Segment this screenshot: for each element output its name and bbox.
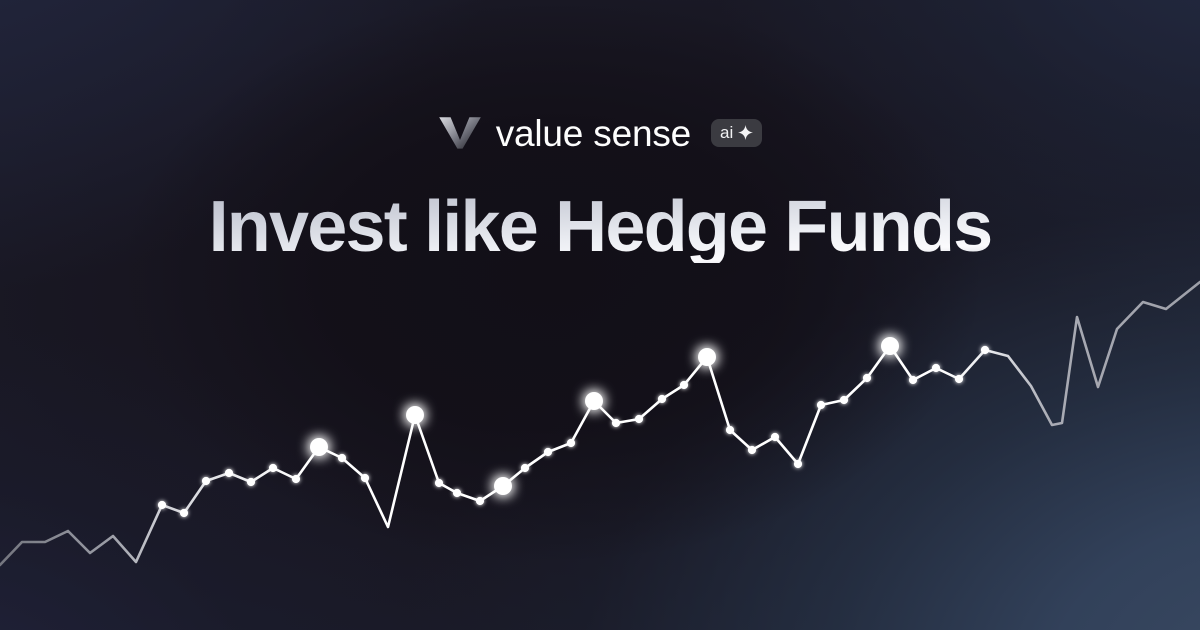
hero-header: value sense ai Invest like Hedge Funds	[0, 0, 1200, 263]
chart-point-highlighted	[406, 406, 424, 424]
chart-point	[435, 479, 443, 487]
chart-point-highlighted	[494, 477, 512, 495]
chart-point-highlighted	[310, 438, 328, 456]
value-sense-chevron-logo-icon	[438, 116, 482, 150]
chart-point	[180, 509, 188, 517]
chart-point	[567, 439, 575, 447]
chart-point	[680, 381, 688, 389]
chart-point	[453, 489, 461, 497]
hero-banner: value sense ai Invest like Hedge Funds	[0, 0, 1200, 630]
chart-line-group	[0, 282, 1200, 565]
chart-point	[247, 478, 255, 486]
chart-point	[544, 448, 552, 456]
chart-point	[863, 374, 871, 382]
chart-point	[932, 364, 940, 372]
chart-point	[635, 415, 643, 423]
chart-point-highlighted	[881, 337, 899, 355]
chart-data-points	[158, 337, 989, 517]
chart-line-path	[0, 282, 1200, 565]
brand-lockup[interactable]: value sense ai	[438, 112, 763, 154]
chart-point	[909, 376, 917, 384]
chart-point	[158, 501, 166, 509]
chart-point	[794, 460, 802, 468]
chart-point	[748, 446, 756, 454]
chart-point	[202, 477, 210, 485]
chart-point	[225, 469, 233, 477]
chart-point-highlighted	[585, 392, 603, 410]
chart-point	[771, 433, 779, 441]
chart-point-highlighted	[698, 348, 716, 366]
chart-point	[476, 497, 484, 505]
chart-point	[292, 475, 300, 483]
ai-badge[interactable]: ai	[711, 119, 762, 147]
chart-point	[817, 401, 825, 409]
chart-point	[269, 464, 277, 472]
chart-point	[361, 474, 369, 482]
chart-point	[981, 346, 989, 354]
brand-name: value sense	[496, 115, 691, 152]
ai-badge-label: ai	[720, 124, 733, 141]
chart-point	[726, 426, 734, 434]
chart-point	[338, 454, 346, 462]
chart-point	[612, 419, 620, 427]
chart-point	[840, 396, 848, 404]
chart-point	[521, 464, 529, 472]
page-title: Invest like Hedge Funds	[209, 191, 992, 263]
sparkle-icon	[738, 125, 753, 140]
chart-point	[658, 395, 666, 403]
chart-point	[955, 375, 963, 383]
